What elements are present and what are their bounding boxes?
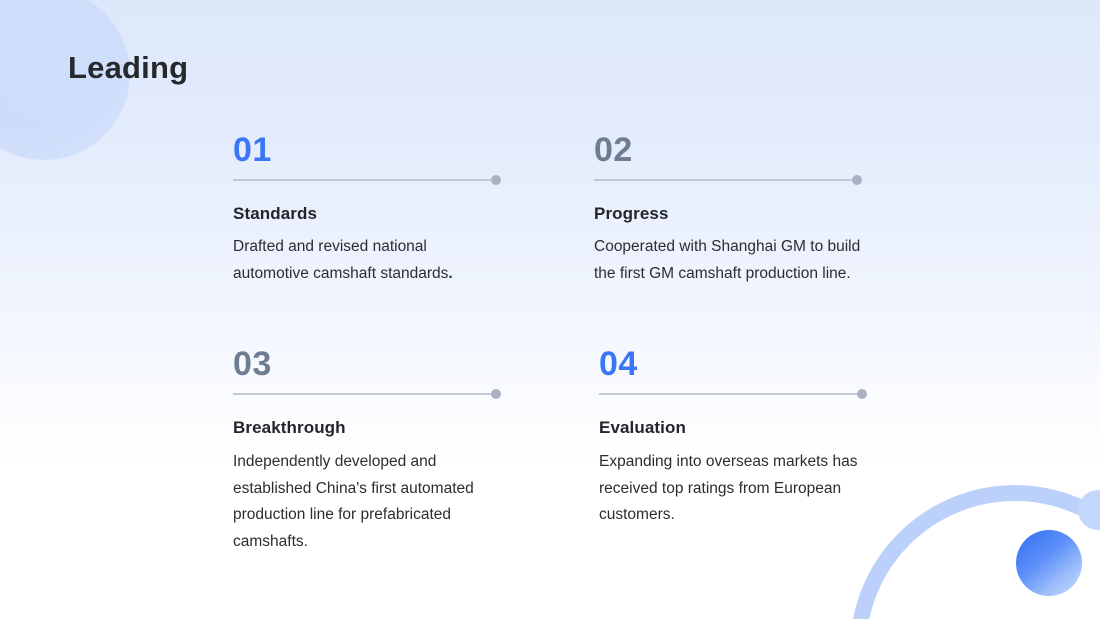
feature-description: Expanding into overseas markets has rece…: [599, 449, 867, 529]
feature-description: Cooperated with Shanghai GM to build the…: [594, 234, 862, 287]
feature-item-03: 03 Breakthrough Independently developed …: [233, 345, 501, 555]
feature-number: 02: [594, 131, 862, 169]
feature-item-02: 02 Progress Cooperated with Shanghai GM …: [594, 131, 862, 287]
divider-line: [233, 393, 496, 395]
divider-line: [233, 179, 496, 181]
divider-line: [594, 179, 857, 181]
slide-canvas: Leading 01 Standards Drafted and revised…: [0, 0, 1100, 619]
divider-dot-icon: [491, 175, 501, 185]
feature-number: 04: [599, 345, 867, 383]
divider-dot-icon: [852, 175, 862, 185]
feature-description-suffix: .: [448, 265, 452, 282]
feature-number: 01: [233, 131, 501, 169]
feature-divider: [233, 175, 501, 185]
feature-description: Drafted and revised national automotive …: [233, 234, 501, 287]
decorative-ball-bottom-right: [1016, 530, 1082, 596]
feature-divider: [594, 175, 862, 185]
feature-divider: [233, 389, 501, 399]
feature-row: 01 Standards Drafted and revised nationa…: [233, 131, 933, 287]
feature-row: 03 Breakthrough Independently developed …: [233, 345, 933, 555]
feature-grid: 01 Standards Drafted and revised nationa…: [233, 131, 933, 555]
feature-title: Breakthrough: [233, 418, 501, 438]
feature-number: 03: [233, 345, 501, 383]
feature-description-text: Drafted and revised national automotive …: [233, 238, 448, 282]
page-title: Leading: [68, 50, 188, 86]
feature-title: Standards: [233, 204, 501, 224]
divider-dot-icon: [491, 389, 501, 399]
divider-dot-icon: [857, 389, 867, 399]
feature-title: Evaluation: [599, 418, 867, 438]
feature-title: Progress: [594, 204, 862, 224]
feature-description: Independently developed and established …: [233, 449, 501, 555]
feature-divider: [599, 389, 867, 399]
decorative-pill-bottom-right: [1078, 490, 1100, 530]
feature-item-04: 04 Evaluation Expanding into overseas ma…: [599, 345, 867, 555]
divider-line: [599, 393, 862, 395]
feature-item-01: 01 Standards Drafted and revised nationa…: [233, 131, 501, 287]
